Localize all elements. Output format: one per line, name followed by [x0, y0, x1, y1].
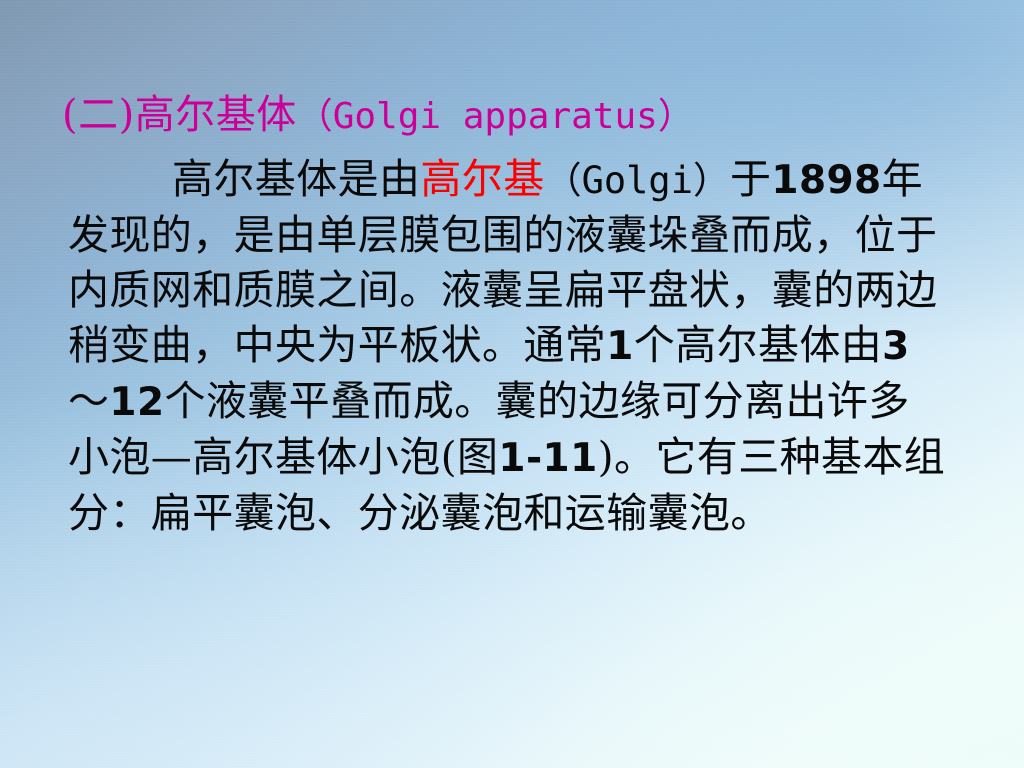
body-text-run-4: 于: [730, 155, 771, 203]
body-text-run-1: 高尔基体是由: [172, 155, 420, 203]
body-text-run-8: 个高尔基体由: [634, 321, 882, 369]
presentation-slide: (二)高尔基体（Golgi apparatus） 高尔基体是由高尔基（Golgi…: [0, 0, 1024, 768]
slide-title: (二)高尔基体（Golgi apparatus）: [62, 89, 962, 143]
emphasis-text-golgi: 高尔基: [420, 155, 544, 203]
inline-number-5: 1898: [771, 158, 881, 203]
body-text-run-10: ～: [68, 377, 109, 425]
slide-title-chinese: (二)高尔基体: [62, 92, 297, 138]
slide-content: (二)高尔基体（Golgi apparatus） 高尔基体是由高尔基（Golgi…: [0, 0, 1024, 768]
inline-number-11: 12: [109, 380, 164, 425]
slide-body-paragraph: 高尔基体是由高尔基（Golgi）于1898年发现的，是由单层膜包围的液囊垛叠而成…: [68, 152, 948, 541]
inline-number-13: 1-11: [498, 436, 597, 481]
inline-number-9: 3: [882, 324, 910, 369]
inline-latin-3: （Golgi）: [545, 159, 730, 202]
slide-title-latin: （Golgi apparatus）: [297, 96, 694, 137]
inline-number-7: 1: [606, 324, 634, 369]
